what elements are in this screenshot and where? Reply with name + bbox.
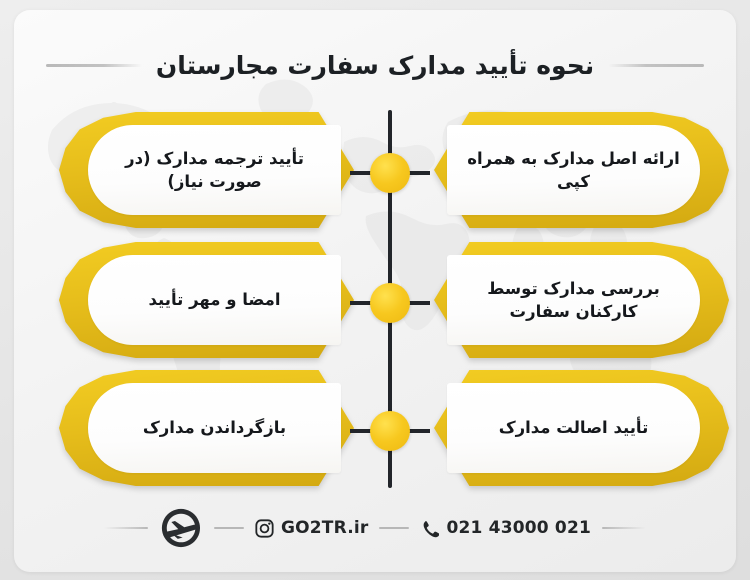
page-title: نحوه تأیید مدارک سفارت مجارستان (156, 51, 594, 80)
connector-stub-left-3 (350, 429, 372, 433)
step-card-left-1[interactable]: تأیید ترجمه مدارک (در صورت نیاز) (59, 112, 354, 228)
connector-stub-left-1 (350, 171, 372, 175)
phone-number-text: 021 43000 021 (446, 518, 591, 538)
step-label-right-2: بررسی مدارک توسط کارکنان سفارت (475, 277, 672, 324)
step-card-right-2[interactable]: بررسی مدارک توسط کارکنان سفارت (434, 242, 729, 358)
footer-rule-2 (379, 527, 409, 529)
footer-rule-1 (214, 527, 244, 529)
step-card-left-2[interactable]: امضا و مهر تأیید (59, 242, 354, 358)
content-card: نحوه تأیید مدارک سفارت مجارستان تأیید تر… (14, 10, 736, 572)
step-card-left-2-body: امضا و مهر تأیید (88, 255, 341, 345)
spine-node-1 (370, 153, 410, 193)
footer-bar: GO2TR.ir 021 43000 021 (14, 502, 736, 554)
step-label-right-1: ارائه اصل مدارک به همراه کپی (447, 147, 700, 194)
step-card-right-3[interactable]: تأیید اصالت مدارک (434, 370, 729, 486)
title-rule-left (46, 64, 142, 67)
step-label-left-2: امضا و مهر تأیید (136, 288, 292, 311)
step-label-left-3: بازگرداندن مدارک (131, 416, 298, 439)
step-label-right-3: تأیید اصالت مدارک (487, 416, 661, 439)
instagram-handle-text: GO2TR.ir (281, 518, 369, 538)
go2tr-airplane-logo (159, 506, 203, 550)
instagram-icon (255, 519, 274, 538)
connector-stub-right-2 (408, 301, 430, 305)
step-label-left-1: تأیید ترجمه مدارک (در صورت نیاز) (88, 147, 341, 194)
connector-stub-right-1 (408, 171, 430, 175)
footer-rule-right (602, 527, 646, 529)
title-rule-right (608, 64, 704, 67)
step-card-right-2-body: بررسی مدارک توسط کارکنان سفارت (447, 255, 700, 345)
footer-rule-left (104, 527, 148, 529)
title-row: نحوه تأیید مدارک سفارت مجارستان (14, 44, 736, 86)
step-card-left-3-body: بازگرداندن مدارک (88, 383, 341, 473)
instagram-handle-item[interactable]: GO2TR.ir (255, 518, 369, 538)
step-card-right-1[interactable]: ارائه اصل مدارک به همراه کپی (434, 112, 729, 228)
connector-stub-left-2 (350, 301, 372, 305)
connector-stub-right-3 (408, 429, 430, 433)
step-card-right-1-body: ارائه اصل مدارک به همراه کپی (447, 125, 700, 215)
phone-icon (420, 519, 439, 538)
step-card-right-3-body: تأیید اصالت مدارک (447, 383, 700, 473)
spine-node-3 (370, 411, 410, 451)
step-card-left-1-body: تأیید ترجمه مدارک (در صورت نیاز) (88, 125, 341, 215)
infographic-root: نحوه تأیید مدارک سفارت مجارستان تأیید تر… (0, 0, 750, 580)
spine-node-2 (370, 283, 410, 323)
phone-number-item[interactable]: 021 43000 021 (420, 518, 591, 538)
step-card-left-3[interactable]: بازگرداندن مدارک (59, 370, 354, 486)
